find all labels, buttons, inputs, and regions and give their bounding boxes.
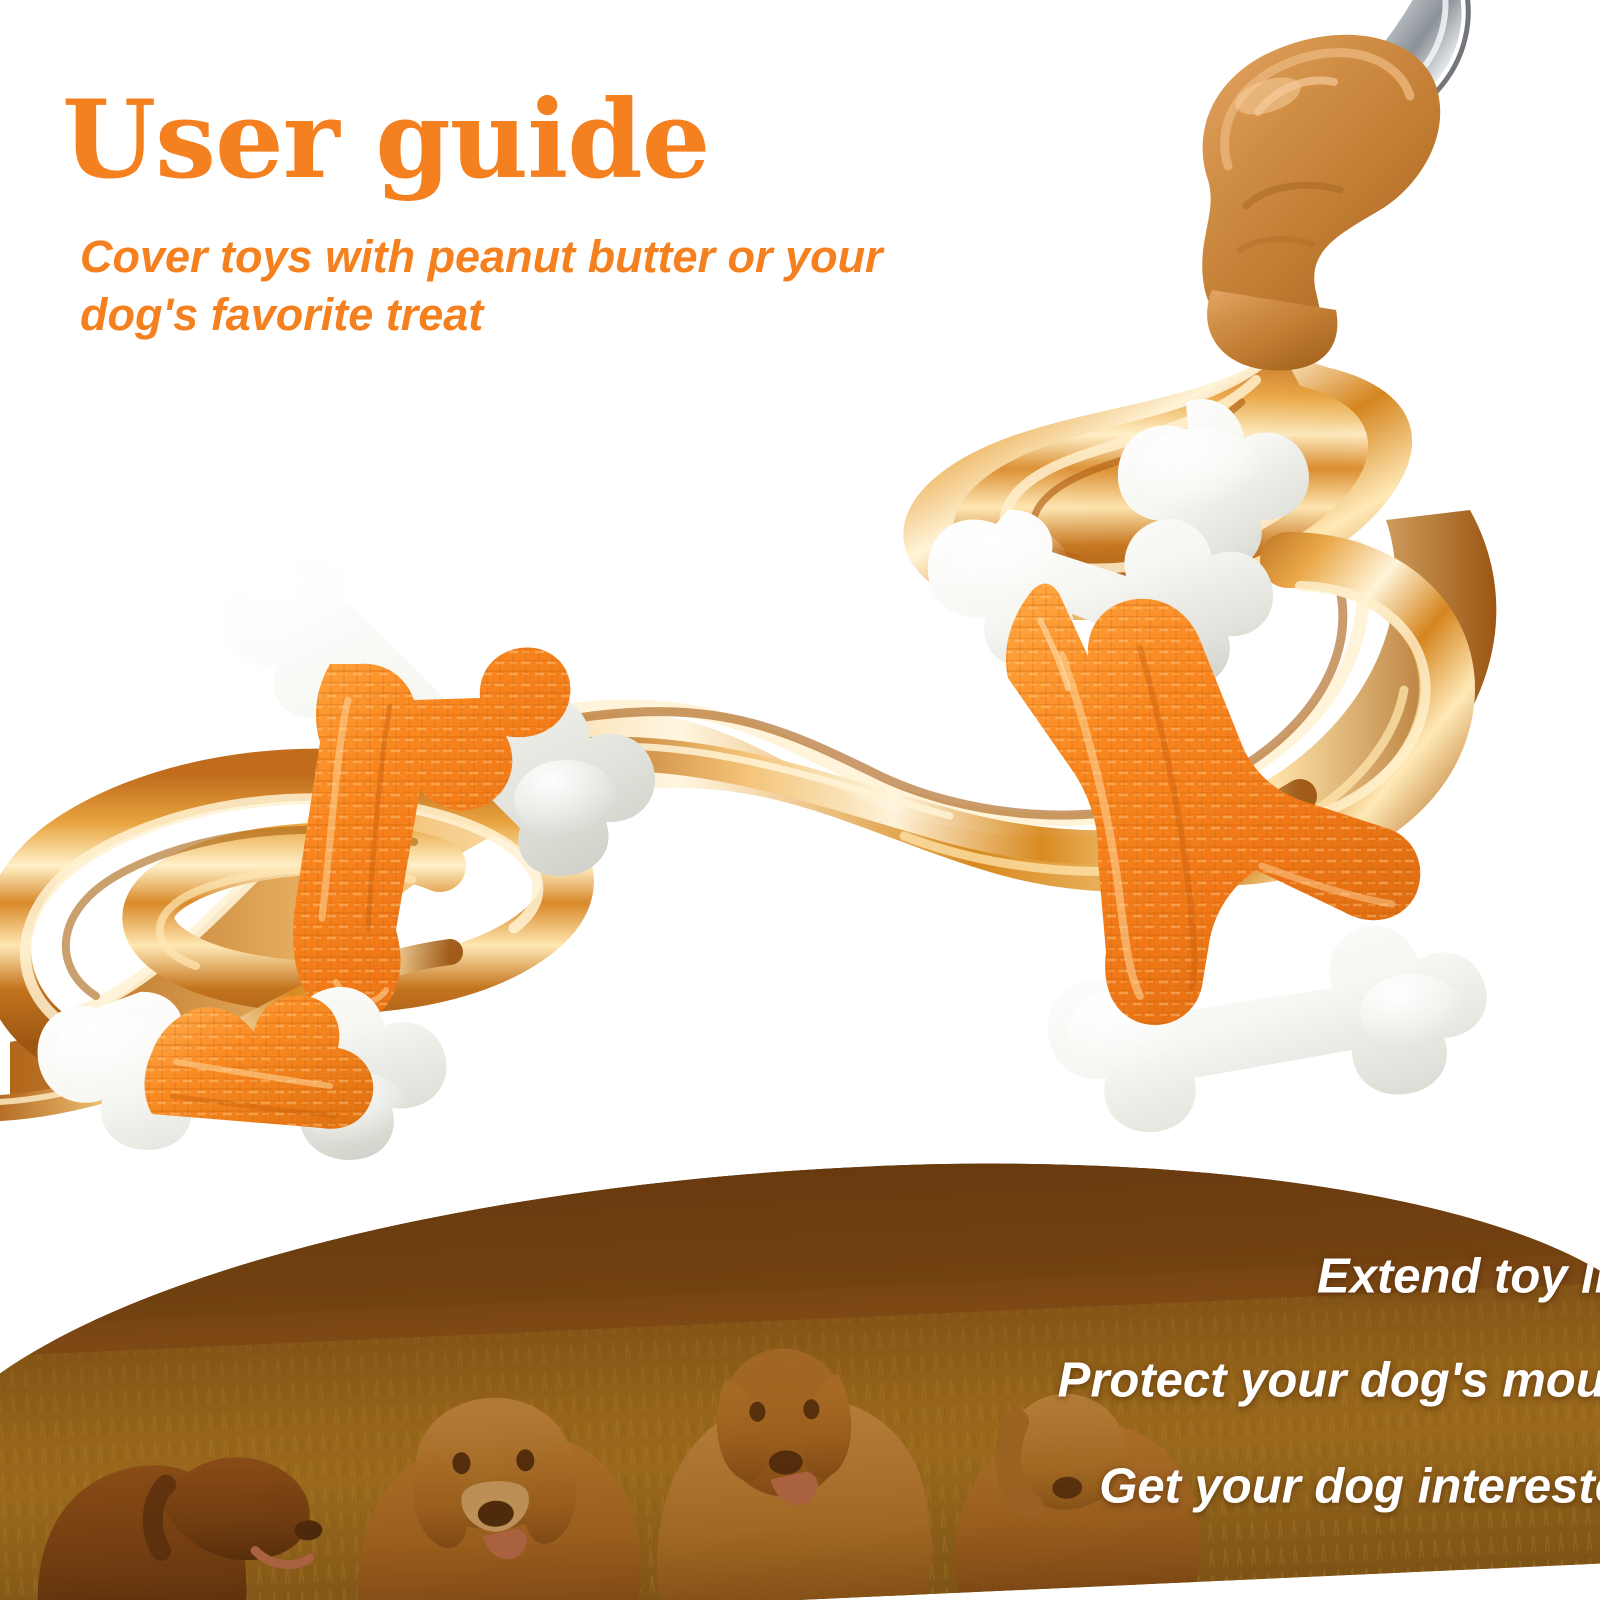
product-infographic: User guide Cover toys with peanut butter…: [0, 0, 1600, 1600]
bottom-photo-banner: Extend toy life Protect your dog's mouth…: [0, 1131, 1600, 1600]
benefit-item: Extend toy life: [1317, 1252, 1600, 1301]
benefit-item: Get your dog interested: [1099, 1462, 1600, 1511]
benefit-item: Protect your dog's mouth: [1058, 1356, 1600, 1405]
headline-block: User guide Cover toys with peanut butter…: [62, 86, 1022, 343]
chew-bone-toy-left: [220, 558, 655, 1025]
chew-bone-toy-right: [928, 399, 1487, 1132]
peanut-butter-spoon: [1202, 0, 1468, 370]
peanut-butter-swirl: [0, 330, 1496, 1108]
page-subtitle: Cover toys with peanut butter or your do…: [80, 228, 970, 343]
benefits-list: Extend toy life Protect your dog's mouth…: [80, 1166, 1600, 1596]
chew-bone-toy-lower-left: [38, 987, 447, 1160]
page-title: User guide: [62, 86, 1022, 194]
